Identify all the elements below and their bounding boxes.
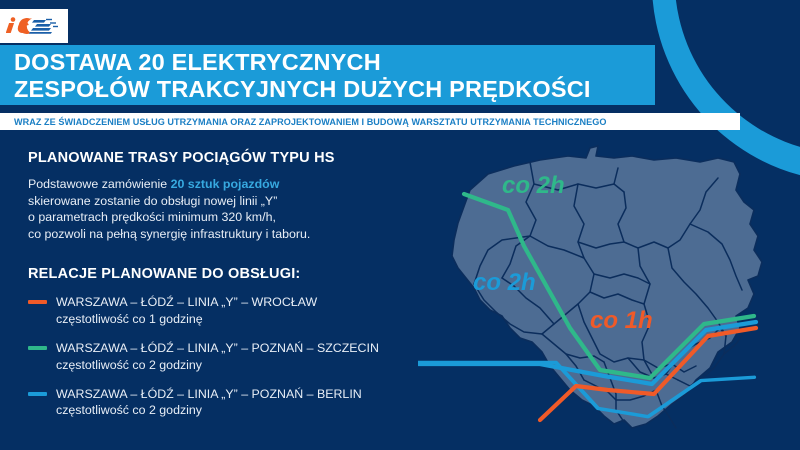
paragraph-line-2: skierowane zostanie do obsługi nowej lin…: [28, 193, 448, 210]
legend-dash-orange: [28, 300, 47, 304]
map-label-orange-co-1h: co 1h: [590, 307, 653, 334]
paragraph-line-1: Podstawowe zamówienie 20 sztuk pojazdów: [28, 176, 448, 193]
paragraph-text-a: Podstawowe zamówienie: [28, 177, 171, 191]
legend-text-green: WARSZAWA – ŁÓDŹ – LINIA „Y” – POZNAŃ – S…: [56, 340, 379, 373]
content-column: PLANOWANE TRASY POCIĄGÓW TYPU HS Podstaw…: [28, 150, 448, 432]
legend-frequency-orange: częstotliwość co 1 godzinę: [56, 311, 317, 327]
ic-intercity-logo[interactable]: C: [0, 9, 68, 43]
svg-text:C: C: [17, 20, 29, 37]
page-subtitle: WRAZ ZE ŚWIADCZENIEM USŁUG UTRZYMANIA OR…: [0, 117, 606, 127]
map-label-green-co-2h: co 2h: [502, 172, 565, 199]
legend-route-orange: WARSZAWA – ŁÓDŹ – LINIA „Y” – WROCŁAW: [56, 294, 317, 310]
section-title: PLANOWANE TRASY POCIĄGÓW TYPU HS: [28, 150, 448, 166]
page-title-line-2: ZESPOŁÓW TRAKCYJNYCH DUŻYCH PRĘDKOŚCI: [14, 76, 591, 103]
subtitle-band: WRAZ ZE ŚWIADCZENIEM USŁUG UTRZYMANIA OR…: [0, 113, 740, 130]
legend-frequency-blue: częstotliwość co 2 godziny: [56, 402, 362, 418]
legend-dash-blue: [28, 392, 47, 396]
title-band: DOSTAWA 20 ELEKTRYCZNYCH ZESPOŁÓW TRAKCY…: [0, 45, 655, 105]
paragraph-highlight: 20 sztuk pojazdów: [171, 177, 280, 191]
legend-dash-green: [28, 346, 47, 350]
paragraph-line-4: co pozwoli na pełną synergię infrastrukt…: [28, 226, 448, 243]
legend-item-orange: WARSZAWA – ŁÓDŹ – LINIA „Y” – WROCŁAW cz…: [28, 294, 448, 327]
page-title-line-1: DOSTAWA 20 ELEKTRYCZNYCH: [14, 49, 381, 76]
description-paragraph: Podstawowe zamówienie 20 sztuk pojazdów …: [28, 176, 448, 242]
relations-title: RELACJE PLANOWANE DO OBSŁUGI:: [28, 266, 448, 282]
paragraph-line-3: o parametrach prędkości minimum 320 km/h…: [28, 209, 448, 226]
legend-text-blue: WARSZAWA – ŁÓDŹ – LINIA „Y” – POZNAŃ – B…: [56, 386, 362, 419]
legend-text-orange: WARSZAWA – ŁÓDŹ – LINIA „Y” – WROCŁAW cz…: [56, 294, 317, 327]
legend-item-green: WARSZAWA – ŁÓDŹ – LINIA „Y” – POZNAŃ – S…: [28, 340, 448, 373]
legend-item-blue: WARSZAWA – ŁÓDŹ – LINIA „Y” – POZNAŃ – B…: [28, 386, 448, 419]
poland-map: co 2h co 2h co 1h: [418, 128, 800, 450]
legend-route-green: WARSZAWA – ŁÓDŹ – LINIA „Y” – POZNAŃ – S…: [56, 340, 379, 356]
map-label-blue-co-2h: co 2h: [473, 269, 536, 296]
legend-frequency-green: częstotliwość co 2 godziny: [56, 357, 379, 373]
logo-glyph: C: [6, 15, 62, 37]
legend-route-blue: WARSZAWA – ŁÓDŹ – LINIA „Y” – POZNAŃ – B…: [56, 386, 362, 402]
